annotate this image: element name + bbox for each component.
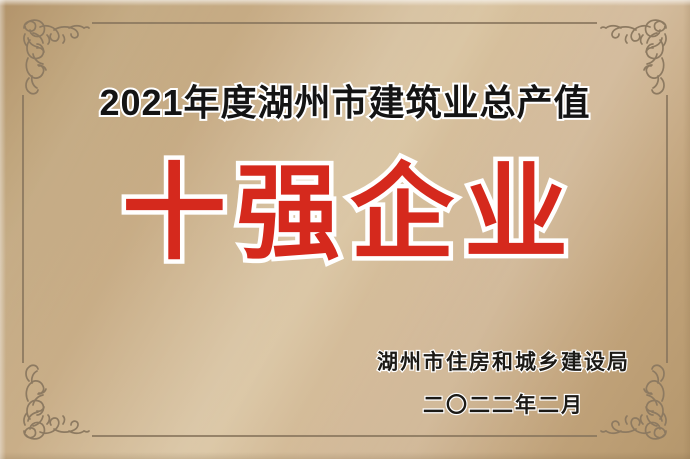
plaque-content: 2021年度湖州市建筑业总产值 十强企业 湖州市住房和城乡建设局 二〇二二年二月 bbox=[0, 0, 690, 459]
issuer-block: 湖州市住房和城乡建设局 二〇二二年二月 bbox=[377, 346, 630, 419]
issue-date: 二〇二二年二月 bbox=[377, 389, 630, 419]
issuing-organization: 湖州市住房和城乡建设局 bbox=[377, 346, 630, 376]
award-headline: 十强企业 bbox=[0, 160, 690, 269]
award-plaque: 2021年度湖州市建筑业总产值 十强企业 湖州市住房和城乡建设局 二〇二二年二月 bbox=[0, 0, 690, 459]
award-title: 2021年度湖州市建筑业总产值 bbox=[0, 74, 690, 126]
